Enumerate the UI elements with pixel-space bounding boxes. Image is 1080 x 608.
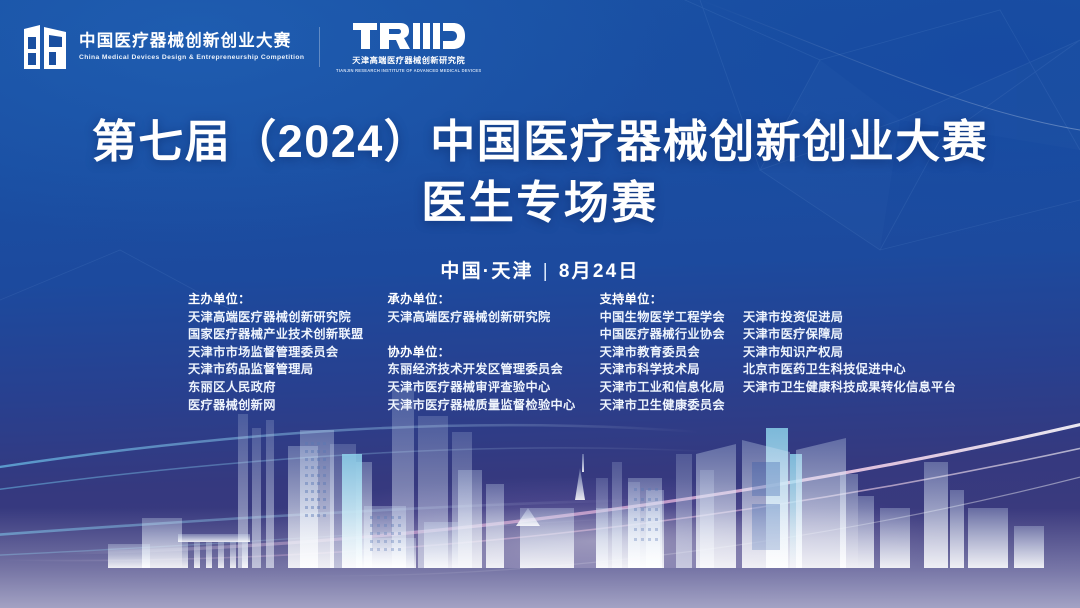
primary-logo-en: China Medical Devices Design & Entrepren… <box>79 54 304 62</box>
organization-item: 东丽经济技术开发区管理委员会 <box>388 361 576 379</box>
logo-divider <box>319 27 320 67</box>
header-logo-bar: 中国医疗器械创新创业大赛 China Medical Devices Desig… <box>22 21 481 73</box>
organization-item: 天津市投资促进局 <box>743 309 956 327</box>
organization-item: 天津市药品监督管理局 <box>188 361 364 379</box>
trimd-logo-en: TIANJIN RESEARCH INSTITUTE OF ADVANCED M… <box>336 68 481 73</box>
organization-item: 东丽区人民政府 <box>188 379 364 397</box>
organization-column: 承办单位：天津高端医疗器械创新研究院协办单位：东丽经济技术开发区管理委员会天津市… <box>388 291 576 414</box>
organization-item: 天津市市场监督管理委员会 <box>188 344 364 362</box>
organization-item: 中国生物医学工程学会 <box>600 309 725 327</box>
organization-section-header: 支持单位： <box>600 291 957 309</box>
trimd-logo: 天津高端医疗器械创新研究院 TIANJIN RESEARCH INSTITUTE… <box>336 21 481 73</box>
open-door-logo-icon <box>22 23 68 71</box>
organization-subcolumns: 中国生物医学工程学会中国医疗器械行业协会天津市教育委员会天津市科学技术局天津市工… <box>600 309 957 415</box>
event-date: 8月24日 <box>559 261 640 282</box>
organization-item: 天津市知识产权局 <box>743 344 956 362</box>
primary-logo-text: 中国医疗器械创新创业大赛 China Medical Devices Desig… <box>79 32 300 61</box>
organization-item: 天津市教育委员会 <box>600 344 725 362</box>
organization-item: 天津市卫生健康科技成果转化信息平台 <box>743 379 956 397</box>
organization-column: 支持单位：中国生物医学工程学会中国医疗器械行业协会天津市教育委员会天津市科学技术… <box>600 291 957 414</box>
organization-item: 北京市医药卫生科技促进中心 <box>743 361 956 379</box>
organization-section-header: 协办单位： <box>388 344 576 362</box>
organization-column: 主办单位：天津高端医疗器械创新研究院国家医疗器械产业技术创新联盟天津市市场监督管… <box>188 291 364 414</box>
organization-item: 国家医疗器械产业技术创新联盟 <box>188 326 364 344</box>
organization-item: 天津市医疗器械审评查验中心 <box>388 379 576 397</box>
organization-section-header: 承办单位： <box>388 291 576 309</box>
event-separator: | <box>543 261 550 283</box>
poster-title: 第七届（2024）中国医疗器械创新创业大赛 医生专场赛 <box>0 112 1080 233</box>
organization-item: 天津市医疗器械质量监督检验中心 <box>388 397 576 415</box>
organization-subcolumn: 中国生物医学工程学会中国医疗器械行业协会天津市教育委员会天津市科学技术局天津市工… <box>600 309 725 415</box>
organization-item: 医疗器械创新网 <box>188 397 364 415</box>
organization-subcolumn: 天津市投资促进局天津市医疗保障局天津市知识产权局北京市医药卫生科技促进中心天津市… <box>743 309 956 415</box>
city-glow <box>0 478 1080 568</box>
title-line-2: 医生专场赛 <box>0 173 1080 232</box>
organization-item: 天津市医疗保障局 <box>743 326 956 344</box>
organization-item: 天津市卫生健康委员会 <box>600 397 725 415</box>
primary-logo-cn: 中国医疗器械创新创业大赛 <box>79 32 300 50</box>
event-meta: 中国·天津|8月24日 <box>0 256 1080 283</box>
event-location: 中国·天津 <box>440 261 533 282</box>
organization-list: 主办单位：天津高端医疗器械创新研究院国家医疗器械产业技术创新联盟天津市市场监督管… <box>188 291 956 414</box>
trimd-wordmark-icon <box>353 21 465 51</box>
trimd-logo-cn: 天津高端医疗器械创新研究院 <box>352 54 465 66</box>
event-poster: 中国医疗器械创新创业大赛 China Medical Devices Desig… <box>0 0 1080 608</box>
organization-item: 中国医疗器械行业协会 <box>600 326 725 344</box>
section-spacer <box>388 326 576 344</box>
organization-item: 天津市工业和信息化局 <box>600 379 725 397</box>
organization-item: 天津市科学技术局 <box>600 361 725 379</box>
organization-section-header: 主办单位： <box>188 291 364 309</box>
title-line-1: 第七届（2024）中国医疗器械创新创业大赛 <box>0 112 1080 171</box>
organization-item: 天津高端医疗器械创新研究院 <box>188 309 364 327</box>
organization-item: 天津高端医疗器械创新研究院 <box>388 309 576 327</box>
